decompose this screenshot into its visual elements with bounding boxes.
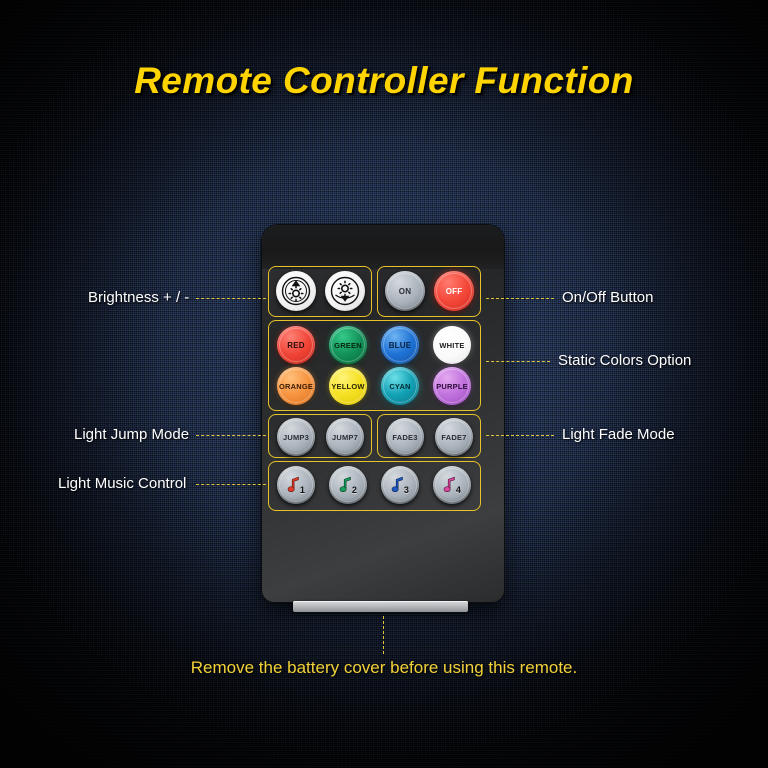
callout-jump: Light Jump Mode — [74, 426, 189, 443]
brightness-up-icon — [281, 276, 311, 306]
brightness-down-icon — [330, 276, 360, 306]
remote-keypad: ON OFF RED GREEN BLUE WHITE ORANGE — [268, 266, 498, 520]
color-button-label: WHITE — [439, 341, 464, 350]
music-note-icon: 4 — [443, 476, 461, 494]
off-button-label: OFF — [446, 287, 463, 296]
color-button-label: ORANGE — [279, 382, 313, 391]
music-button-1[interactable]: 1 — [277, 466, 315, 504]
fade7-button[interactable]: FADE7 — [435, 418, 473, 456]
leader-line-static-colors — [486, 361, 550, 362]
music-note-icon: 3 — [391, 476, 409, 494]
color-button-label: RED — [287, 341, 305, 350]
color-button-label: GREEN — [334, 341, 362, 350]
color-button-label: PURPLE — [436, 382, 468, 391]
color-button-label: CYAN — [389, 382, 410, 391]
off-button[interactable]: OFF — [434, 271, 474, 311]
leader-line-music — [196, 484, 266, 485]
jump7-button[interactable]: JUMP7 — [326, 418, 364, 456]
callout-brightness: Brightness + / - — [88, 289, 189, 306]
fade3-button[interactable]: FADE3 — [386, 418, 424, 456]
color-button-cyan[interactable]: CYAN — [381, 367, 419, 405]
music-button-number: 2 — [352, 485, 357, 495]
color-button-purple[interactable]: PURPLE — [433, 367, 471, 405]
on-button-label: ON — [399, 287, 411, 296]
leader-line-fade — [486, 435, 554, 436]
music-note-icon: 2 — [339, 476, 357, 494]
music-button-number: 4 — [456, 485, 461, 495]
leader-line-battery-cover — [383, 616, 384, 654]
on-button[interactable]: ON — [385, 271, 425, 311]
color-button-red[interactable]: RED — [277, 326, 315, 364]
page-title: Remote Controller Function — [0, 60, 768, 102]
jump3-button[interactable]: JUMP3 — [277, 418, 315, 456]
footer-note: Remove the battery cover before using th… — [0, 658, 768, 678]
music-button-4[interactable]: 4 — [433, 466, 471, 504]
color-button-white[interactable]: WHITE — [433, 326, 471, 364]
remote-top-bezel — [262, 225, 504, 269]
leader-line-brightness — [196, 298, 266, 299]
infographic-canvas: Remote Controller Function — [0, 0, 768, 768]
music-button-2[interactable]: 2 — [329, 466, 367, 504]
fade-button-label: FADE3 — [392, 433, 417, 442]
color-button-yellow[interactable]: YELLOW — [329, 367, 367, 405]
brightness-up-button[interactable] — [276, 271, 316, 311]
callout-static-colors: Static Colors Option — [558, 352, 691, 369]
music-note-icon: 1 — [287, 476, 305, 494]
callout-fade: Light Fade Mode — [562, 426, 675, 443]
leader-line-on-off — [486, 298, 554, 299]
fade-button-label: FADE7 — [441, 433, 466, 442]
music-button-number: 3 — [404, 485, 409, 495]
color-button-green[interactable]: GREEN — [329, 326, 367, 364]
color-button-orange[interactable]: ORANGE — [277, 367, 315, 405]
color-button-label: YELLOW — [331, 382, 364, 391]
music-button-3[interactable]: 3 — [381, 466, 419, 504]
music-button-number: 1 — [300, 485, 305, 495]
callout-on-off: On/Off Button — [562, 289, 653, 306]
jump-button-label: JUMP7 — [332, 433, 358, 442]
color-button-blue[interactable]: BLUE — [381, 326, 419, 364]
color-button-label: BLUE — [389, 341, 412, 350]
brightness-down-button[interactable] — [325, 271, 365, 311]
callout-music: Light Music Control — [58, 475, 186, 492]
leader-line-jump — [196, 435, 266, 436]
jump-button-label: JUMP3 — [283, 433, 309, 442]
battery-cover[interactable] — [293, 601, 468, 612]
